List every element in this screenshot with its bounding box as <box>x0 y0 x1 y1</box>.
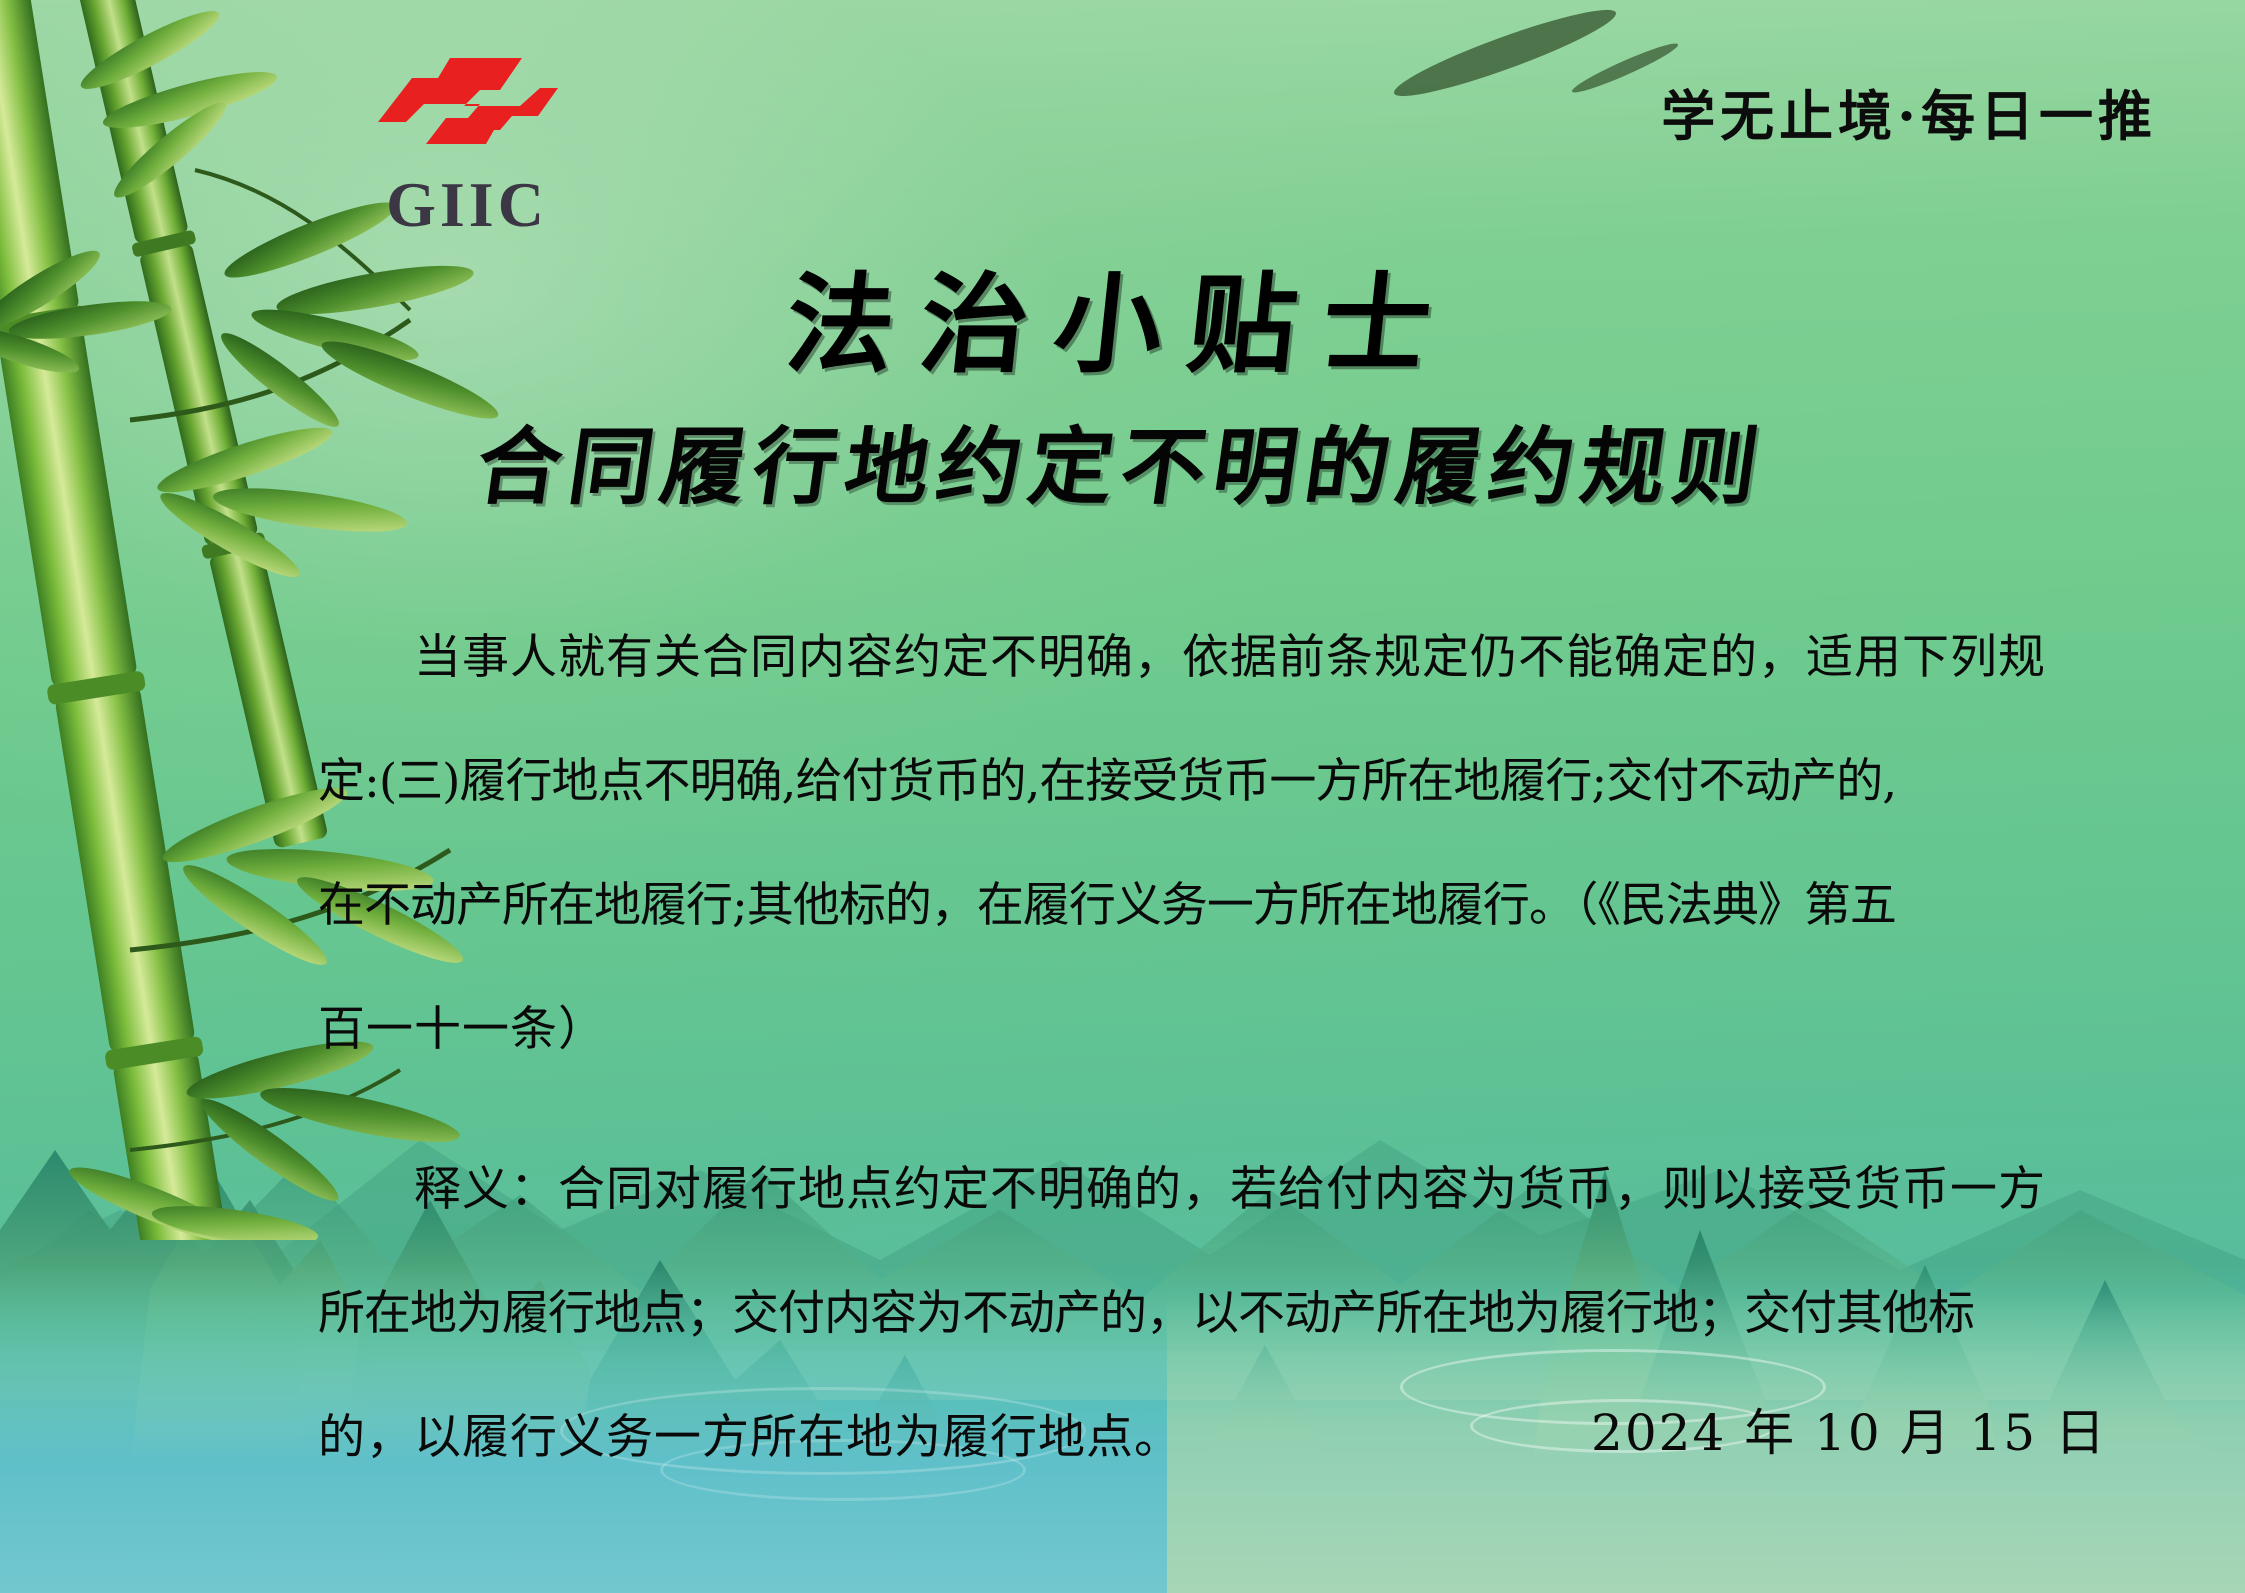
page-title: 法治小贴士 <box>0 238 2245 394</box>
brand-wordmark: GIIC <box>352 168 582 242</box>
header-slogan: 学无止境·每日一推 <box>1661 72 2157 151</box>
statute-line-3: 在不动产所在地履行;其他标的，在履行义务一方所在地履行。（《民法典》第五 <box>318 844 2135 968</box>
statute-line-1: 当事人就有关合同内容约定不明确，依据前条规定仍不能确定的，适用下列规 <box>318 596 2135 720</box>
body-content: 当事人就有关合同内容约定不明确，依据前条规定仍不能确定的，适用下列规 定:(三)… <box>318 596 2135 1500</box>
explanation-line-1: 释义：合同对履行地点约定不明确的，若给付内容为货币，则以接受货币一方 <box>318 1128 2135 1252</box>
explanation-line-2: 所在地为履行地点；交付内容为不动产的，以不动产所在地为履行地；交付其他标 <box>318 1252 2135 1376</box>
poster-canvas: GIIC 学无止境·每日一推 法治小贴士 合同履行地约定不明的履约规则 当事人就… <box>0 0 2245 1593</box>
statute-line-4: 百一十一条） <box>318 968 2135 1092</box>
statute-line-2: 定:(三)履行地点不明确,给付货币的,在接受货币一方所在地履行;交付不动产的, <box>318 720 2135 844</box>
paragraph-statute: 当事人就有关合同内容约定不明确，依据前条规定仍不能确定的，适用下列规 定:(三)… <box>318 596 2135 1092</box>
brand-logo: GIIC <box>352 52 582 242</box>
page-subtitle: 合同履行地约定不明的履约规则 <box>0 400 2245 521</box>
giic-g-mark-icon <box>372 52 562 164</box>
publish-date: 2024 年 10 月 15 日 <box>1591 1393 2107 1465</box>
